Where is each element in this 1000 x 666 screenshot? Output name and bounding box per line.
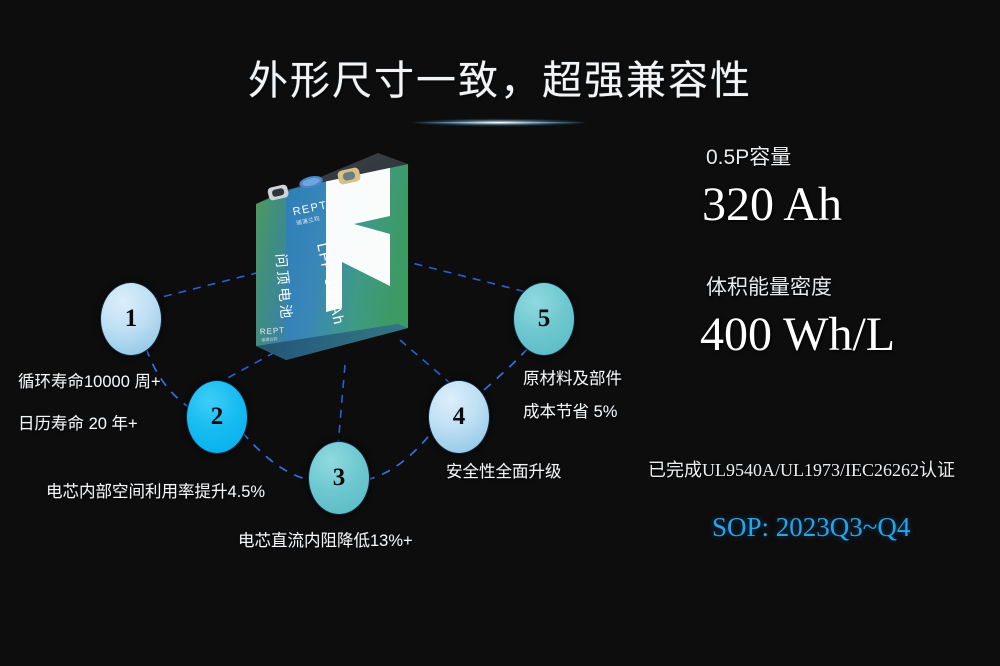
caption-5-line-1: 原材料及部件: [523, 365, 622, 389]
bubble-2-number: 2: [211, 403, 224, 431]
bubble-4[interactable]: 4: [428, 380, 490, 454]
capacity-value: 320 Ah: [702, 177, 842, 232]
bubble-3-number: 3: [333, 464, 346, 492]
bubble-2[interactable]: 2: [186, 380, 248, 454]
bubble-1[interactable]: 1: [100, 282, 162, 356]
density-label: 体积能量密度: [706, 271, 832, 301]
capacity-label: 0.5P容量: [706, 141, 791, 171]
bubble-1-number: 1: [125, 305, 138, 333]
caption-2: 电芯内部空间利用率提升4.5%: [46, 478, 265, 502]
caption-4: 安全性全面升级: [446, 458, 562, 482]
density-value: 400 Wh/L: [700, 307, 895, 362]
bubble-4-number: 4: [453, 403, 466, 431]
bubble-5[interactable]: 5: [513, 282, 575, 356]
caption-1-line-1: 循环寿命10000 周+: [18, 368, 161, 392]
bubble-3[interactable]: 3: [308, 441, 370, 515]
sop-text: SOP: 2023Q3~Q4: [712, 512, 910, 543]
battery-footer-brand-sub: 瑞浦兰钧: [261, 335, 277, 342]
caption-1-line-2: 日历寿命 20 年+: [18, 410, 138, 434]
slide-canvas: 外形尺寸一致，超强兼容性: [0, 0, 1000, 666]
caption-3: 电芯直流内阻降低13%+: [238, 527, 413, 551]
caption-5-line-2: 成本节省 5%: [523, 398, 617, 422]
certification-text: 已完成UL9540A/UL1973/IEC26262认证: [648, 456, 955, 482]
bubble-5-number: 5: [538, 305, 551, 333]
battery-footer-brand: REPT: [260, 326, 286, 337]
battery-cell-illustration: REPT 瑞浦兰钧 LFP 320Ah 问顶电池 REPT 瑞浦兰钧: [238, 138, 448, 378]
